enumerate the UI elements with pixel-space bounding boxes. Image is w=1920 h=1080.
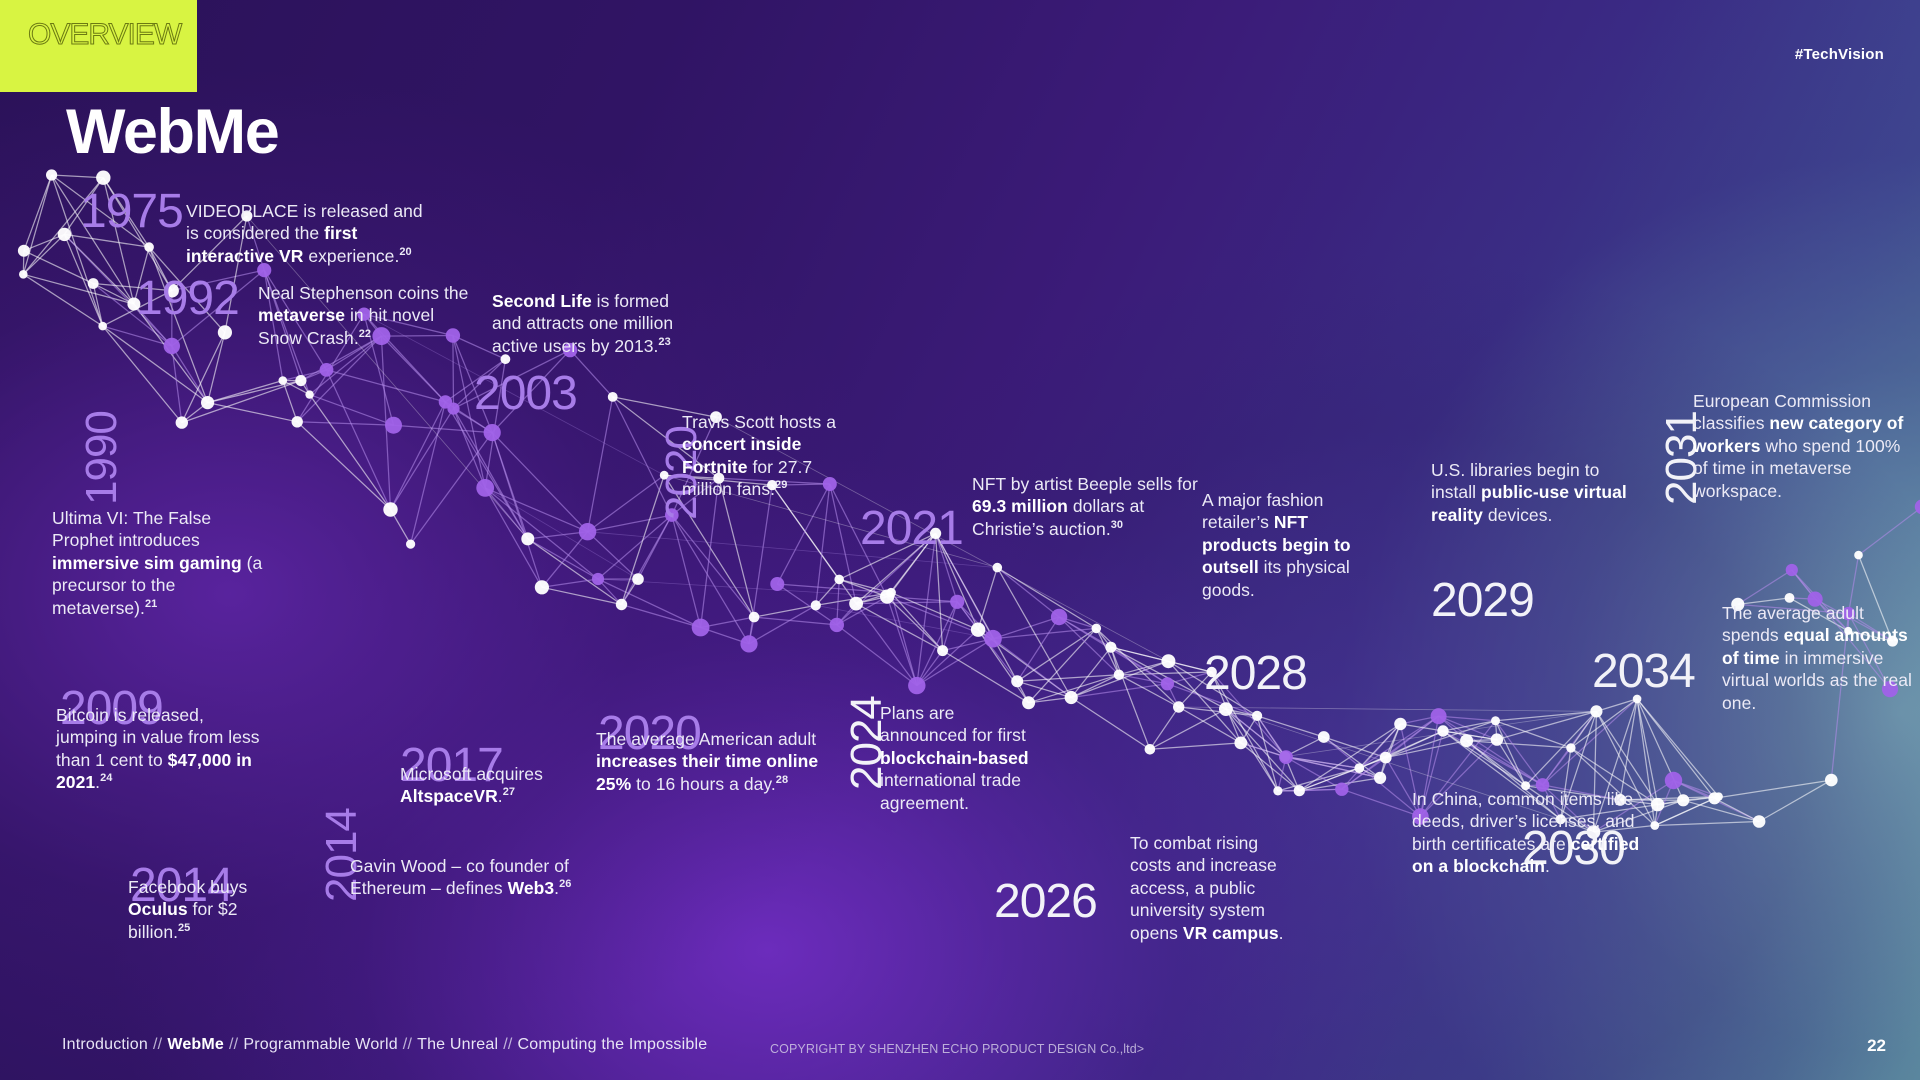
footer-separator: // xyxy=(403,1036,412,1053)
timeline-description-2034: The average adult spends equal amounts o… xyxy=(1722,602,1912,714)
timeline-description-2003: Second Life is formed and attracts one m… xyxy=(492,290,702,357)
timeline-description-2009: Bitcoin is released, jumping in value fr… xyxy=(56,704,266,794)
timeline-year-2021: 2021 xyxy=(860,505,963,553)
timeline-description-2014-facebook: Facebook buys Oculus for $2 billion.25 xyxy=(128,876,288,943)
timeline-description-2029: U.S. libraries begin to install public-u… xyxy=(1431,459,1631,526)
timeline-description-2026: To combat rising costs and increase acce… xyxy=(1130,832,1290,944)
timeline-description-1975: VIDEOPLACE is released and is considered… xyxy=(186,200,426,267)
timeline-description-2020-online: The average American adult increases the… xyxy=(596,728,826,795)
timeline-description-2031: European Commission classifies new categ… xyxy=(1693,390,1913,502)
hashtag-label: #TechVision xyxy=(1795,46,1884,63)
copyright-text: COPYRIGHT BY SHENZHEN ECHO PRODUCT DESIG… xyxy=(770,1042,1144,1056)
page-number: 22 xyxy=(1867,1036,1886,1056)
timeline-description-2017: Microsoft acquires AltspaceVR.27 xyxy=(400,763,600,808)
timeline-year-2026: 2026 xyxy=(994,878,1097,926)
timeline-year-1975: 1975 xyxy=(80,188,183,236)
timeline-description-2020-fortnite: Travis Scott hosts a concert inside Fort… xyxy=(682,411,842,501)
footer-nav-item-webme[interactable]: WebMe xyxy=(167,1036,224,1053)
timeline-year-2034: 2034 xyxy=(1592,648,1695,696)
footer-nav-item-computing-the-impossible[interactable]: Computing the Impossible xyxy=(518,1036,708,1053)
footer-separator: // xyxy=(153,1036,162,1053)
timeline-description-1990: Ultima VI: The False Prophet introduces … xyxy=(52,507,274,619)
timeline-description-2014-web3: Gavin Wood – co founder of Ethereum – de… xyxy=(350,855,600,900)
timeline-description-2030: In China, common items like deeds, drive… xyxy=(1412,788,1642,878)
timeline-year-1990: 1990 xyxy=(80,411,124,505)
overview-badge-label: OVERVIEW xyxy=(28,18,181,52)
footer-separator: // xyxy=(503,1036,512,1053)
timeline-description-2028: A major fashion retailer’s NFT products … xyxy=(1202,489,1352,601)
footer-nav-item-introduction[interactable]: Introduction xyxy=(62,1036,148,1053)
footer-nav: Introduction//WebMe//Programmable World/… xyxy=(62,1036,707,1054)
slide-canvas: OVERVIEW #TechVision WebMe 1975VIDEOPLAC… xyxy=(0,0,1920,1080)
timeline-year-2029: 2029 xyxy=(1431,577,1534,625)
timeline-year-2028: 2028 xyxy=(1204,650,1307,698)
timeline-description-1992: Neal Stephenson coins the metaverse in h… xyxy=(258,282,476,349)
footer-nav-item-the-unreal[interactable]: The Unreal xyxy=(417,1036,498,1053)
timeline-year-1992: 1992 xyxy=(136,275,239,323)
page-title: WebMe xyxy=(66,96,278,168)
overview-badge: OVERVIEW xyxy=(0,0,197,92)
footer-nav-item-programmable-world[interactable]: Programmable World xyxy=(243,1036,397,1053)
timeline-description-2024: Plans are announced for first blockchain… xyxy=(880,702,1030,814)
timeline-description-2021: NFT by artist Beeple sells for 69.3 mill… xyxy=(972,473,1202,540)
footer-separator: // xyxy=(229,1036,238,1053)
timeline-year-2003: 2003 xyxy=(474,370,577,418)
